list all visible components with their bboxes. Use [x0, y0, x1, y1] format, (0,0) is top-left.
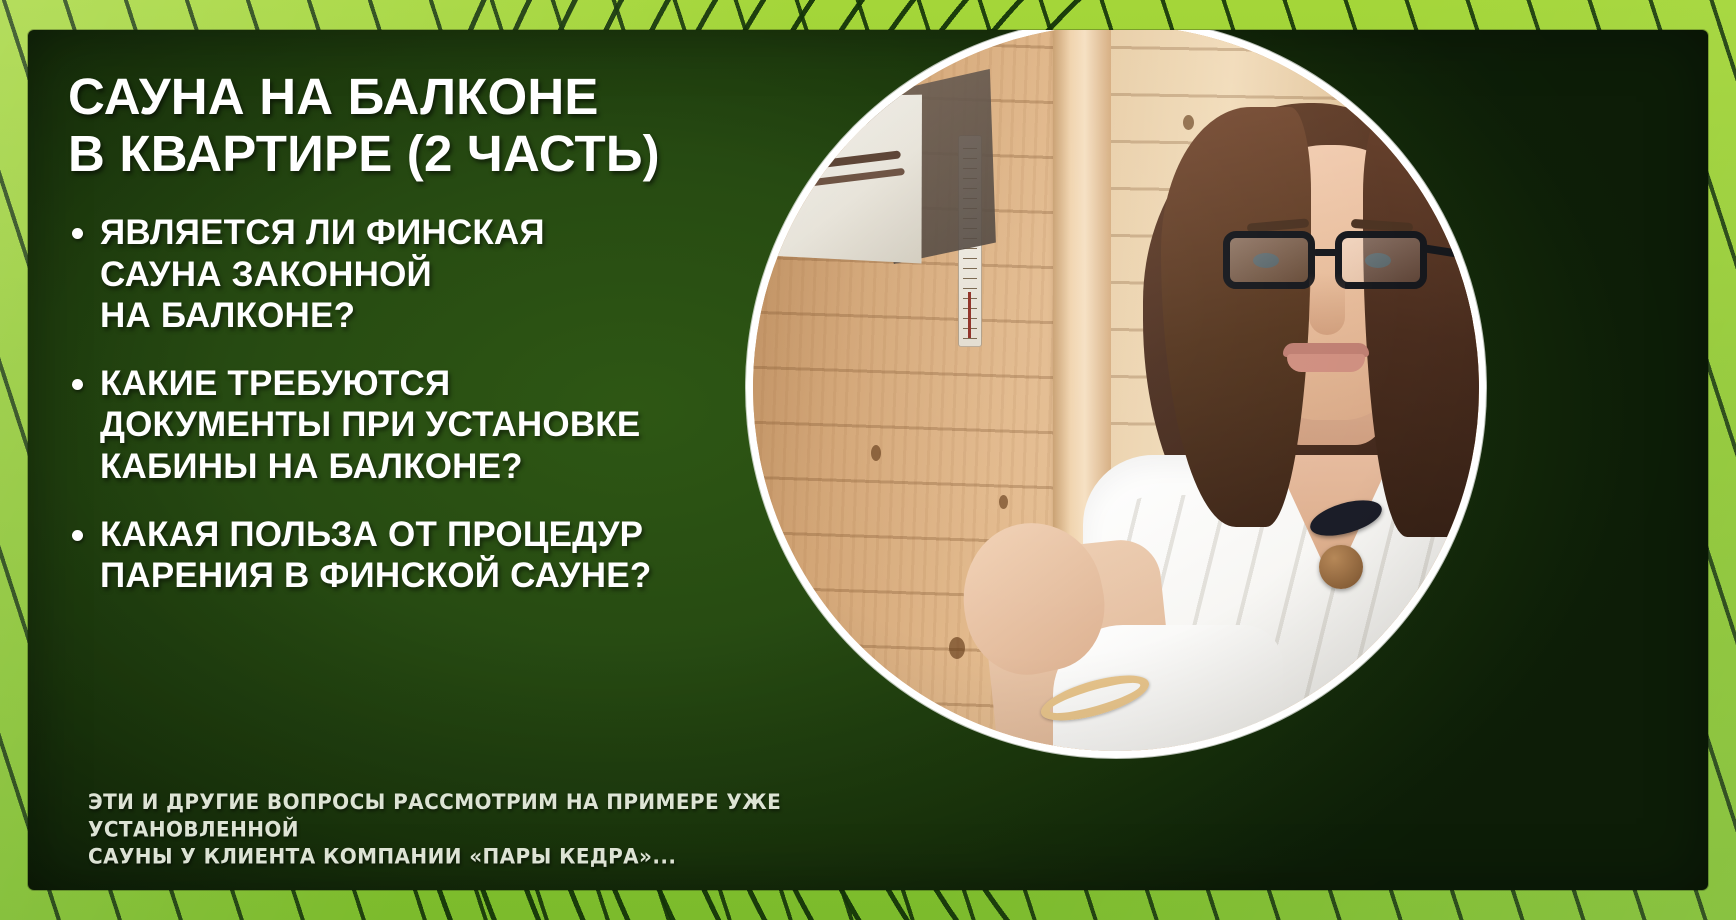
footnote-text: ЭТИ И ДРУГИЕ ВОПРОСЫ РАССМОТРИМ НА ПРИМЕ…: [88, 788, 898, 870]
list-item: ЯВЛЯЕТСЯ ЛИ ФИНСКАЯ САУНА ЗАКОННОЙ НА БА…: [68, 212, 798, 336]
circular-photo-frame: [746, 30, 1486, 758]
list-item: КАКИЕ ТРЕБУЮТСЯ ДОКУМЕНТЫ ПРИ УСТАНОВКЕ …: [68, 363, 798, 487]
photo-shading-overlay: [753, 30, 1479, 751]
question-list: ЯВЛЯЕТСЯ ЛИ ФИНСКАЯ САУНА ЗАКОННОЙ НА БА…: [68, 212, 798, 596]
list-item: КАКАЯ ПОЛЬЗА ОТ ПРОЦЕДУР ПАРЕНИЯ В ФИНСК…: [68, 514, 798, 597]
banner-title: САУНА НА БАЛКОНЕ В КВАРТИРЕ (2 ЧАСТЬ): [68, 68, 798, 182]
text-content-block: САУНА НА БАЛКОНЕ В КВАРТИРЕ (2 ЧАСТЬ) ЯВ…: [68, 68, 798, 624]
content-panel: САУНА НА БАЛКОНЕ В КВАРТИРЕ (2 ЧАСТЬ) ЯВ…: [28, 30, 1708, 890]
blouse-button: [1343, 673, 1387, 717]
woman-in-sauna-photo: [753, 30, 1479, 751]
banner-canvas: САУНА НА БАЛКОНЕ В КВАРТИРЕ (2 ЧАСТЬ) ЯВ…: [0, 0, 1736, 920]
